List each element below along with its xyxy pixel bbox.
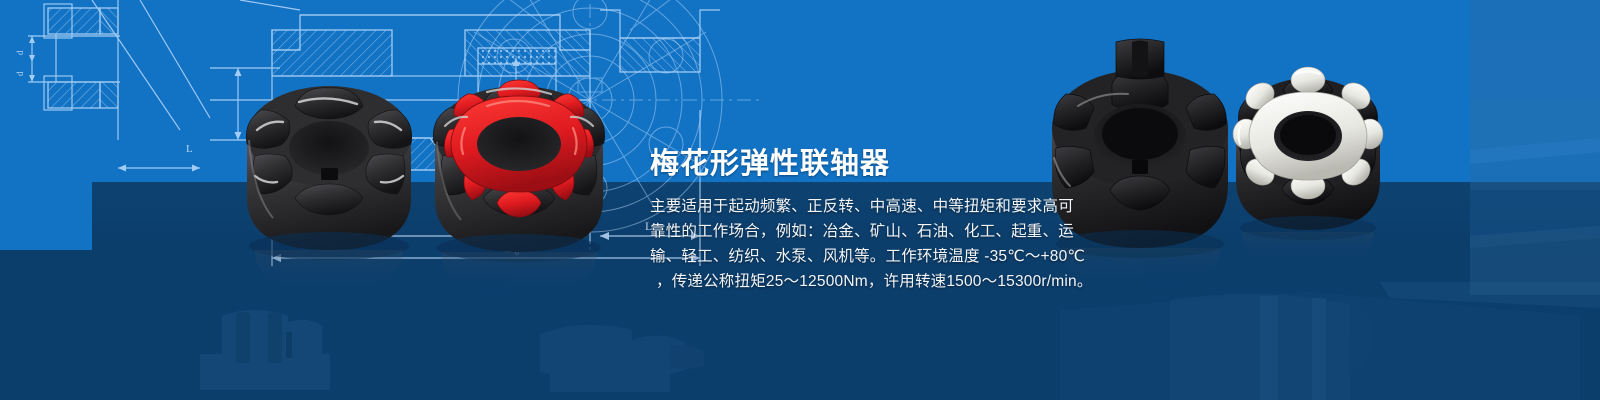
product-banner: d d (0, 0, 1600, 400)
dim-label-d2: d (15, 71, 25, 76)
description-line-4: ，传递公称扭矩25～12500Nm，许用转速1500～15300r/min。 (650, 269, 1070, 294)
product-description: 主要适用于起动频繁、正反转、中高速、中等扭矩和要求高可 靠性的工作场合，例如：冶… (650, 194, 1070, 294)
coupling-hub-black (246, 86, 411, 260)
product-reflection (255, 250, 597, 294)
dim-label-d: d (15, 50, 25, 55)
ghost-machinery-left (140, 292, 480, 400)
dim-label-L-left: L (186, 143, 193, 155)
ghost-machinery-mid (520, 300, 780, 400)
coupling-hub-white-spider (1233, 67, 1383, 240)
coupling-hub-red-spider (433, 80, 604, 262)
ghost-photo-right-edge (1470, 0, 1600, 330)
description-line-1: 主要适用于起动频繁、正反转、中高速、中等扭矩和要求高可 (650, 194, 1070, 219)
product-photo-left-group (225, 18, 645, 318)
page-title: 梅花形弹性联轴器 (650, 140, 890, 182)
white-spider-element (1233, 67, 1383, 199)
description-line-2: 靠性的工作场合，例如：冶金、矿山、石油、化工、起重、运 (650, 219, 1070, 244)
coupling-hub-black-front (1052, 39, 1228, 258)
description-line-3: 输、轻工、纺织、水泵、风机等。工作环境温度 -35℃～+80℃ (650, 244, 1070, 269)
